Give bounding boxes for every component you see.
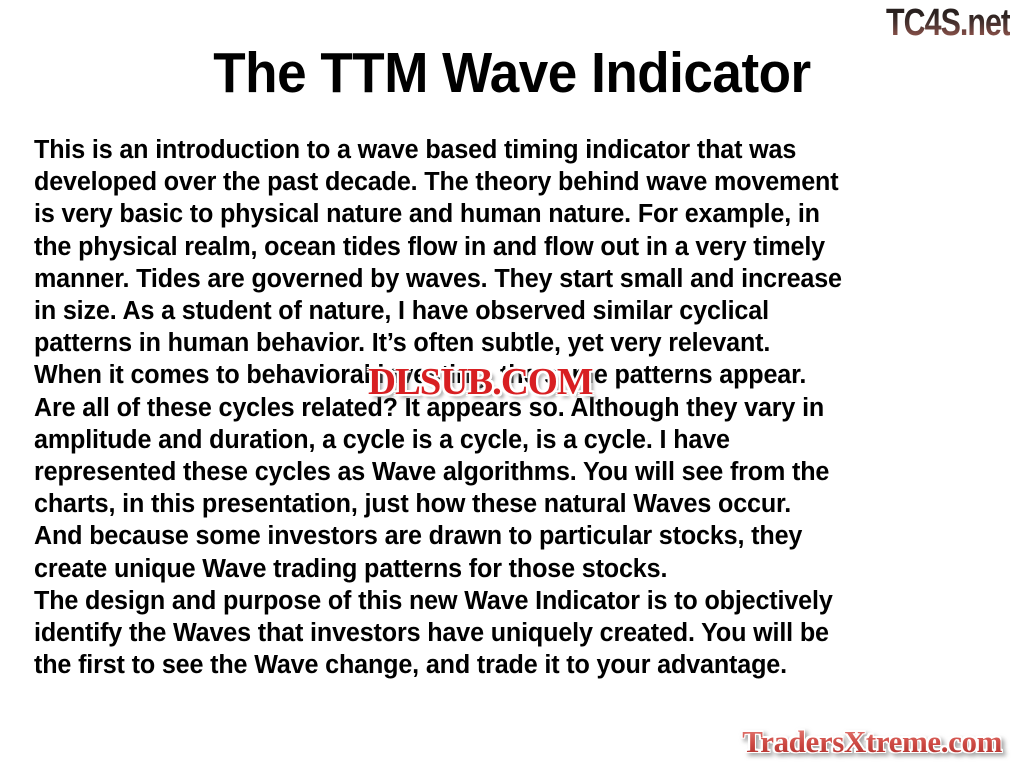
body-line: represented these cycles as Wave algorit… [34, 456, 986, 488]
body-line: manner. Tides are governed by waves. The… [34, 263, 986, 295]
body-line: amplitude and duration, a cycle is a cyc… [34, 424, 986, 456]
body-line: create unique Wave trading patterns for … [34, 553, 986, 585]
body-line: developed over the past decade. The theo… [34, 166, 986, 198]
body-line: the first to see the Wave change, and tr… [34, 649, 986, 681]
body-line: The design and purpose of this new Wave … [34, 585, 986, 617]
dlsub-watermark: DLSUB.COM [368, 362, 592, 402]
tradersxtreme-brand-logo: TradersXtreme.com [742, 724, 1002, 760]
body-text-block: This is an introduction to a wave based … [34, 134, 1000, 681]
body-line: in size. As a student of nature, I have … [34, 295, 986, 327]
body-line: This is an introduction to a wave based … [34, 134, 986, 166]
body-line: And because some investors are drawn to … [34, 520, 986, 552]
body-line: is very basic to physical nature and hum… [34, 198, 986, 230]
body-line: the physical realm, ocean tides flow in … [34, 231, 986, 263]
body-line: patterns in human behavior. It’s often s… [34, 327, 986, 359]
body-line: charts, in this presentation, just how t… [34, 488, 986, 520]
presentation-slide: TC4S.net The TTM Wave Indicator This is … [0, 0, 1024, 768]
page-title: The TTM Wave Indicator [36, 42, 988, 104]
body-line: identify the Waves that investors have u… [34, 617, 986, 649]
tc4s-brand-logo: TC4S.net [886, 2, 1010, 44]
